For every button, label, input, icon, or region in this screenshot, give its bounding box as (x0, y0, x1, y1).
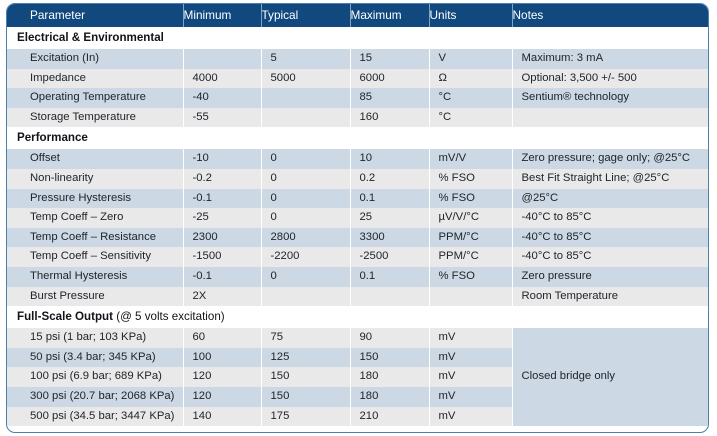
cell-minimum: -0.1 (183, 267, 261, 287)
cell-notes: Zero pressure (512, 267, 709, 287)
cell-typical: 125 (261, 348, 350, 368)
column-header-parameter: Parameter (7, 4, 183, 27)
table-row: Burst Pressure2XRoom Temperature (7, 287, 709, 307)
cell-typical: 0 (261, 208, 350, 228)
table-row: Temp Coeff – Resistance230028003300PPM/°… (7, 228, 709, 248)
cell-units: % FSO (429, 189, 512, 209)
table-row: Temp Coeff – Sensitivity-1500-2200-2500P… (7, 247, 709, 267)
cell-minimum: -25 (183, 208, 261, 228)
cell-maximum: 85 (350, 88, 429, 108)
cell-units: mV (429, 407, 512, 427)
cell-minimum: -0.1 (183, 189, 261, 209)
section-title-bold: Full-Scale Output (17, 310, 113, 323)
table-row: Impedance400050006000ΩOptional: 3,500 +/… (7, 69, 709, 89)
column-header-typical: Typical (261, 4, 350, 27)
cell-parameter: 300 psi (20.7 bar; 2068 KPa) (7, 387, 183, 407)
table-row: 15 psi (1 bar; 103 KPa)607590mVClosed br… (7, 328, 709, 348)
cell-typical: 0 (261, 267, 350, 287)
cell-typical: -2200 (261, 247, 350, 267)
cell-minimum: 100 (183, 348, 261, 368)
cell-notes: -40°C to 85°C (512, 247, 709, 267)
cell-minimum: 60 (183, 328, 261, 348)
cell-notes: Room Temperature (512, 287, 709, 307)
cell-notes: @25°C (512, 189, 709, 209)
column-header-units: Units (429, 4, 512, 27)
cell-parameter: Temp Coeff – Zero (7, 208, 183, 228)
cell-typical: 150 (261, 367, 350, 387)
cell-typical: 0 (261, 189, 350, 209)
cell-notes: Zero pressure; gage only; @25°C (512, 149, 709, 169)
cell-minimum: 4000 (183, 69, 261, 89)
cell-parameter: Impedance (7, 69, 183, 89)
cell-notes: -40°C to 85°C (512, 208, 709, 228)
cell-notes: Sentium® technology (512, 88, 709, 108)
cell-units: V (429, 49, 512, 69)
cell-notes: Optional: 3,500 +/- 500 (512, 69, 709, 89)
cell-minimum: -10 (183, 149, 261, 169)
cell-parameter: Excitation (In) (7, 49, 183, 69)
section-header-row: Performance (7, 127, 709, 149)
specification-table-container: Parameter Minimum Typical Maximum Units … (6, 3, 709, 433)
cell-minimum: 120 (183, 367, 261, 387)
cell-maximum: 0.1 (350, 189, 429, 209)
cell-units: Ω (429, 69, 512, 89)
column-header-minimum: Minimum (183, 4, 261, 27)
cell-parameter: 500 psi (34.5 bar; 3447 KPa) (7, 407, 183, 427)
cell-maximum: 10 (350, 149, 429, 169)
cell-units: PPM/°C (429, 228, 512, 248)
cell-typical (261, 108, 350, 128)
section-title: Electrical & Environmental (7, 27, 709, 49)
cell-parameter: Pressure Hysteresis (7, 189, 183, 209)
cell-maximum: 150 (350, 348, 429, 368)
cell-minimum: 120 (183, 387, 261, 407)
cell-minimum: -55 (183, 108, 261, 128)
cell-units: °C (429, 108, 512, 128)
cell-units: °C (429, 88, 512, 108)
cell-parameter: Thermal Hysteresis (7, 267, 183, 287)
cell-units (429, 287, 512, 307)
table-body: Electrical & EnvironmentalExcitation (In… (7, 27, 709, 426)
cell-minimum: -40 (183, 88, 261, 108)
cell-parameter: Offset (7, 149, 183, 169)
table-row: Thermal Hysteresis-0.100.1% FSOZero pres… (7, 267, 709, 287)
cell-parameter: 15 psi (1 bar; 103 KPa) (7, 328, 183, 348)
section-title-bold: Electrical & Environmental (17, 31, 164, 44)
cell-typical: 0 (261, 149, 350, 169)
table-header: Parameter Minimum Typical Maximum Units … (7, 4, 709, 27)
cell-parameter: Operating Temperature (7, 88, 183, 108)
cell-typical: 5 (261, 49, 350, 69)
cell-maximum: 180 (350, 387, 429, 407)
cell-maximum: -2500 (350, 247, 429, 267)
cell-maximum: 180 (350, 367, 429, 387)
table-row: Offset-10010mV/VZero pressure; gage only… (7, 149, 709, 169)
cell-parameter: 100 psi (6.9 bar; 689 KPa) (7, 367, 183, 387)
table-row: Pressure Hysteresis-0.100.1% FSO@25°C (7, 189, 709, 209)
cell-maximum: 160 (350, 108, 429, 128)
cell-units: % FSO (429, 267, 512, 287)
cell-maximum: 0.1 (350, 267, 429, 287)
cell-maximum: 3300 (350, 228, 429, 248)
cell-typical (261, 287, 350, 307)
cell-notes (512, 108, 709, 128)
cell-units: mV/V (429, 149, 512, 169)
cell-typical: 2800 (261, 228, 350, 248)
table-row: Temp Coeff – Zero-25025µV/V/°C-40°C to 8… (7, 208, 709, 228)
cell-notes: -40°C to 85°C (512, 228, 709, 248)
cell-maximum (350, 287, 429, 307)
section-header-row: Electrical & Environmental (7, 27, 709, 49)
cell-minimum: -1500 (183, 247, 261, 267)
cell-parameter: Burst Pressure (7, 287, 183, 307)
column-header-maximum: Maximum (350, 4, 429, 27)
cell-parameter: Non-linearity (7, 169, 183, 189)
cell-typical: 175 (261, 407, 350, 427)
cell-units: PPM/°C (429, 247, 512, 267)
cell-maximum: 210 (350, 407, 429, 427)
cell-maximum: 25 (350, 208, 429, 228)
table-header-row: Parameter Minimum Typical Maximum Units … (7, 4, 709, 27)
cell-units: mV (429, 367, 512, 387)
cell-units: mV (429, 348, 512, 368)
cell-minimum: 2X (183, 287, 261, 307)
cell-parameter: Temp Coeff – Resistance (7, 228, 183, 248)
section-title-note: (@ 5 volts excitation) (113, 310, 225, 323)
cell-parameter: 50 psi (3.4 bar; 345 KPa) (7, 348, 183, 368)
table-row: Storage Temperature-55160°C (7, 108, 709, 128)
cell-notes-merged: Closed bridge only (512, 328, 709, 426)
column-header-notes: Notes (512, 4, 709, 27)
cell-typical: 5000 (261, 69, 350, 89)
section-title: Performance (7, 127, 709, 149)
cell-minimum: 140 (183, 407, 261, 427)
cell-maximum: 15 (350, 49, 429, 69)
section-header-row: Full-Scale Output (@ 5 volts excitation) (7, 306, 709, 328)
cell-maximum: 6000 (350, 69, 429, 89)
cell-parameter: Storage Temperature (7, 108, 183, 128)
cell-typical: 75 (261, 328, 350, 348)
cell-maximum: 90 (350, 328, 429, 348)
cell-units: µV/V/°C (429, 208, 512, 228)
table-row: Non-linearity-0.200.2% FSOBest Fit Strai… (7, 169, 709, 189)
cell-maximum: 0.2 (350, 169, 429, 189)
table-row: Excitation (In)515VMaximum: 3 mA (7, 49, 709, 69)
cell-minimum (183, 49, 261, 69)
cell-units: % FSO (429, 169, 512, 189)
section-title-bold: Performance (17, 131, 88, 144)
cell-notes: Best Fit Straight Line; @25°C (512, 169, 709, 189)
cell-notes: Maximum: 3 mA (512, 49, 709, 69)
cell-parameter: Temp Coeff – Sensitivity (7, 247, 183, 267)
cell-units: mV (429, 387, 512, 407)
cell-minimum: -0.2 (183, 169, 261, 189)
section-title: Full-Scale Output (@ 5 volts excitation) (7, 306, 709, 328)
table-row: Operating Temperature-4085°CSentium® tec… (7, 88, 709, 108)
cell-typical: 150 (261, 387, 350, 407)
cell-units: mV (429, 328, 512, 348)
cell-typical (261, 88, 350, 108)
cell-minimum: 2300 (183, 228, 261, 248)
cell-typical: 0 (261, 169, 350, 189)
specification-table: Parameter Minimum Typical Maximum Units … (7, 4, 709, 426)
